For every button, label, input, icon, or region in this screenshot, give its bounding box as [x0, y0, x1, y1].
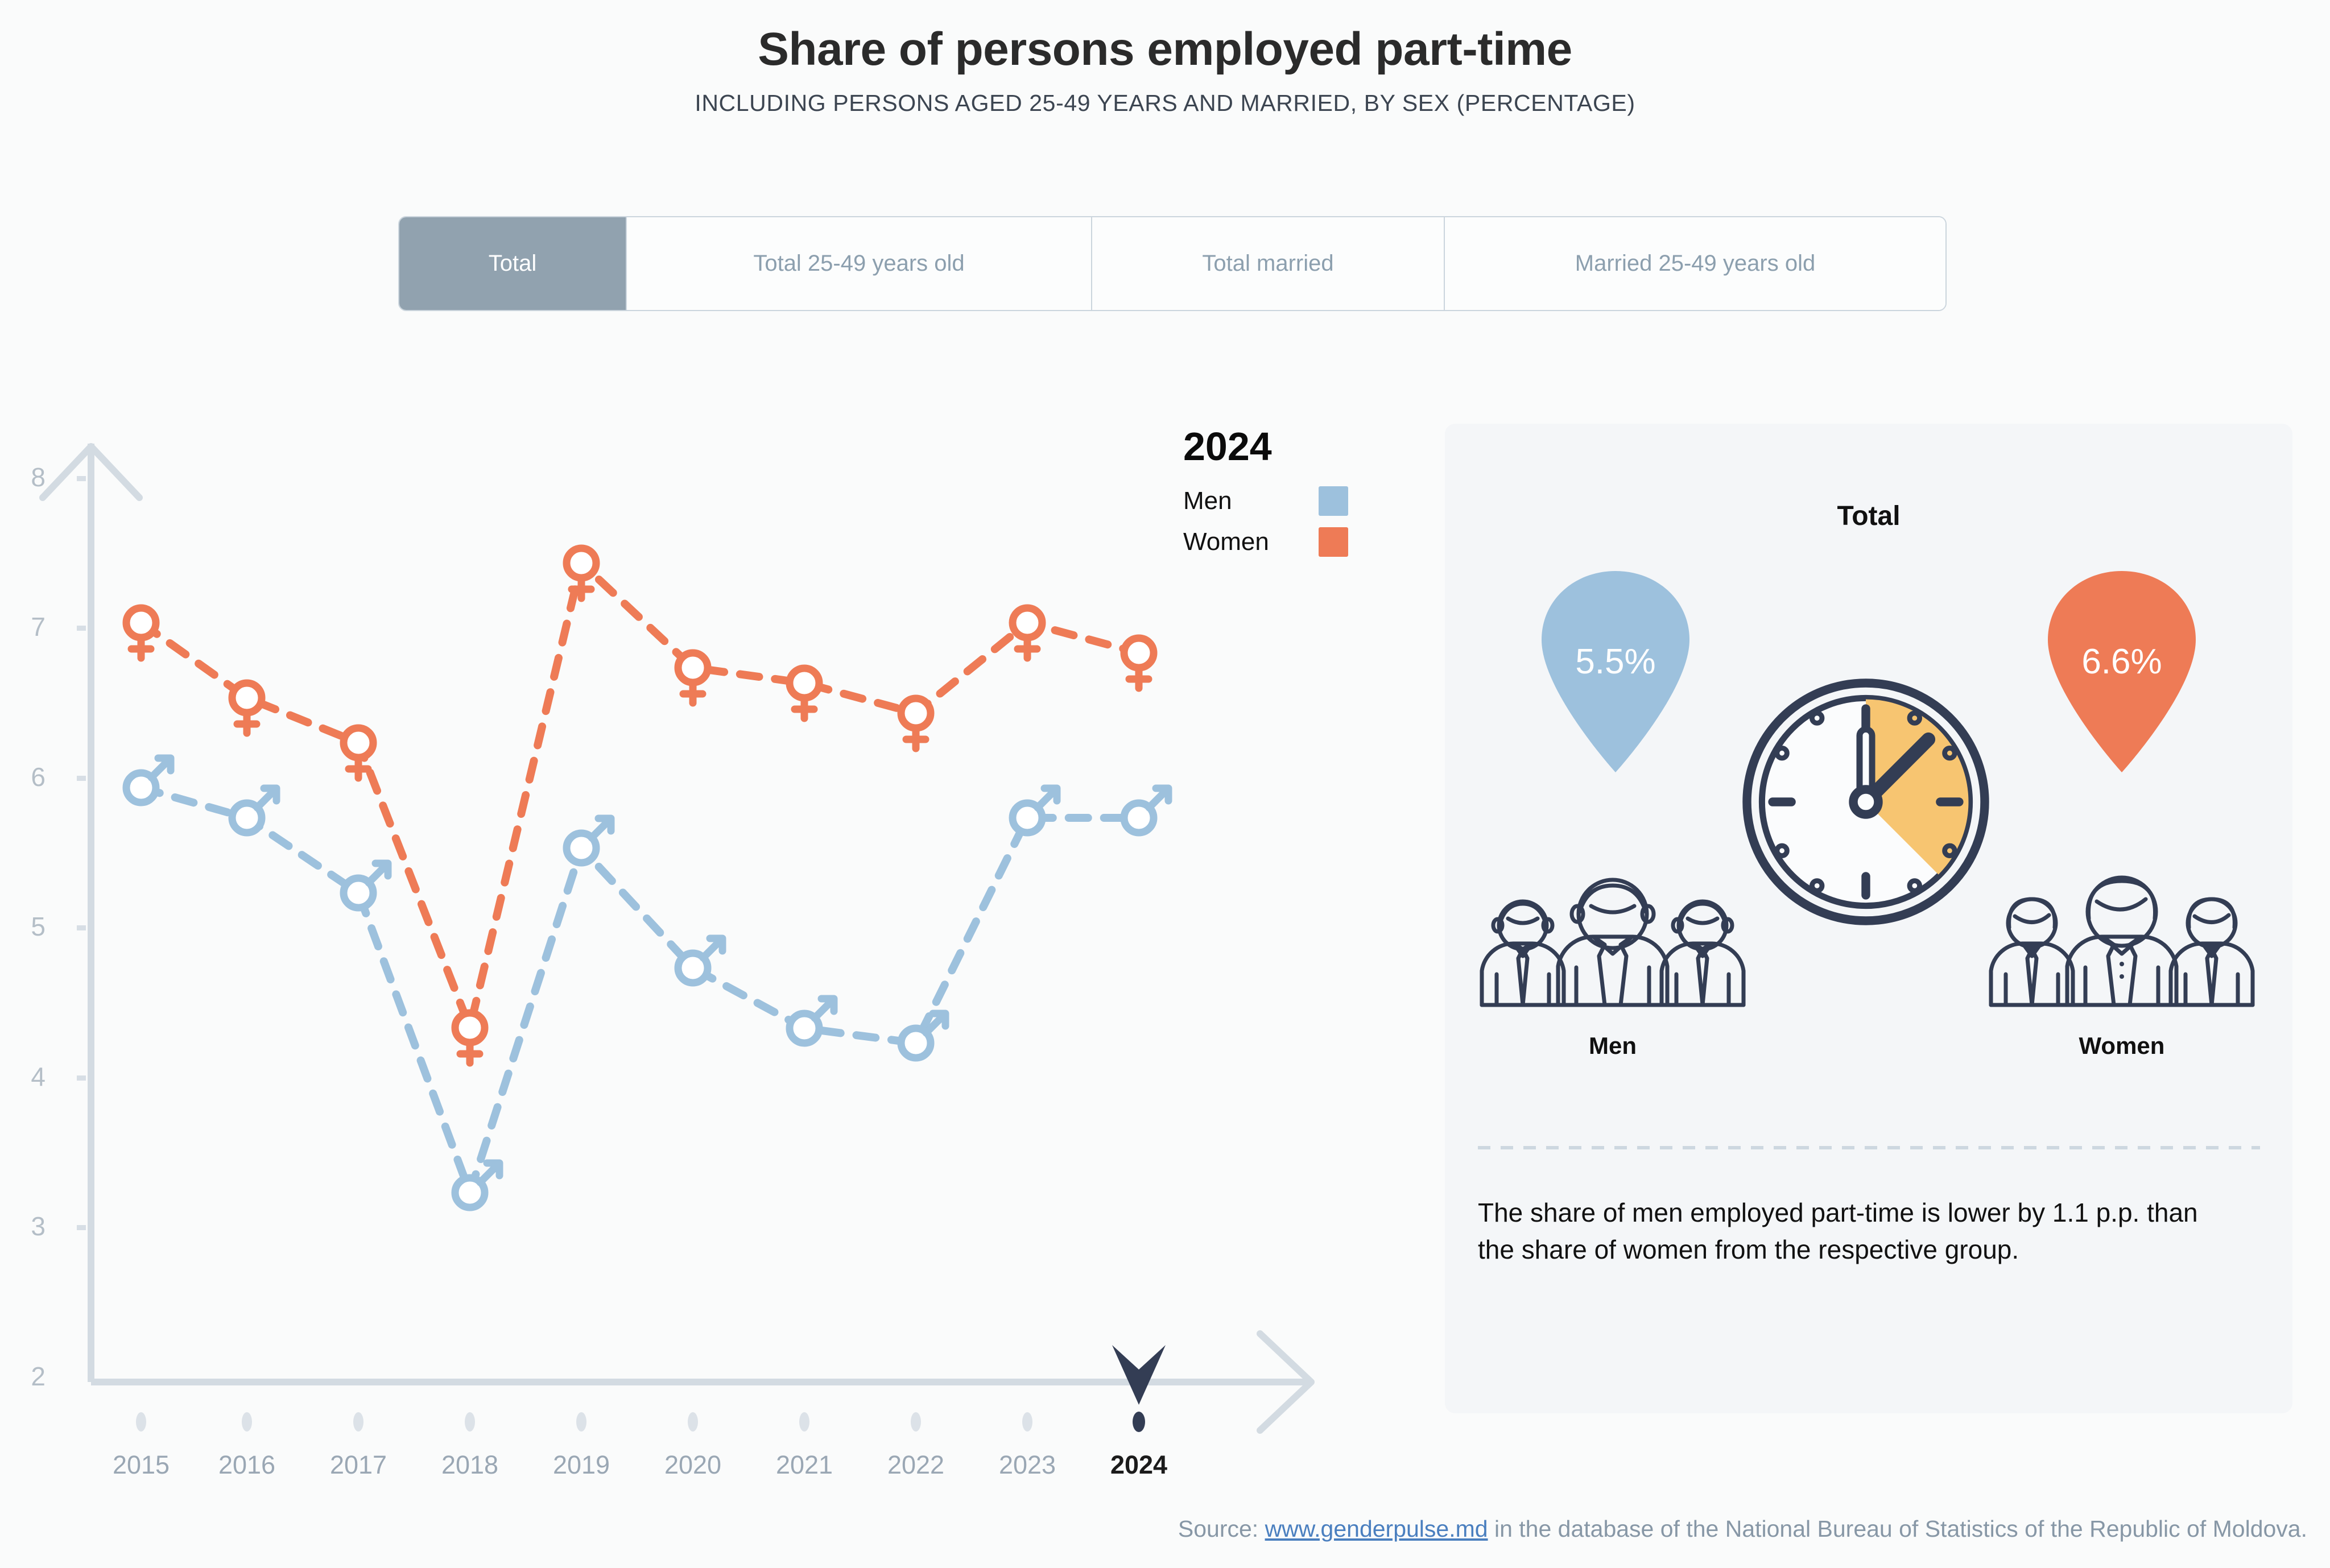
men-value-label: 5.5%: [1530, 642, 1701, 682]
series-line-women: [141, 563, 1139, 1028]
tab-total-25-49-years-old[interactable]: Total 25-49 years old: [627, 217, 1092, 310]
x-tick-label-2017: 2017: [301, 1450, 415, 1480]
y-tick-marks: [77, 476, 86, 1230]
x-axis-dots: [136, 1412, 1145, 1432]
current-year-pointer: [1112, 1345, 1166, 1405]
tab-bar: Total Total 25-49 years old Total marrie…: [398, 216, 1947, 311]
legend-swatch-men-icon: [1319, 486, 1348, 516]
women-group-icon: [1974, 862, 2270, 1015]
x-tick-label-2016: 2016: [190, 1450, 304, 1480]
page-subtitle: INCLUDING PERSONS AGED 25-49 YEARS AND M…: [0, 90, 2330, 117]
women-value-pin: 6.6%: [2036, 569, 2207, 773]
tab-total[interactable]: Total: [399, 217, 627, 310]
series-markers-women: [126, 548, 1154, 1063]
y-tick-label-8: 8: [6, 462, 46, 493]
x-tick-label-2022: 2022: [859, 1450, 973, 1480]
summary-panel-title: Total: [1445, 500, 2292, 532]
page-root: Share of persons employed part-time INCL…: [0, 0, 2330, 1568]
men-group-caption: Men: [1465, 1032, 1761, 1060]
page-title: Share of persons employed part-time: [0, 23, 2330, 76]
y-axis: [43, 444, 139, 1382]
legend-label-women: Women: [1183, 528, 1269, 556]
source-prefix: Source:: [1178, 1516, 1265, 1542]
y-tick-label-2: 2: [6, 1361, 46, 1392]
legend-item-women[interactable]: Women: [1183, 527, 1348, 557]
summary-panel: Total 5.5% 6.6%: [1445, 424, 2292, 1413]
x-tick-label-2020: 2020: [636, 1450, 750, 1480]
legend-item-men[interactable]: Men: [1183, 486, 1348, 516]
women-group-caption: Women: [1974, 1032, 2270, 1060]
x-tick-label-2024: 2024: [1082, 1450, 1196, 1480]
x-tick-label-2015: 2015: [84, 1450, 198, 1480]
line-chart: 8 7 6 5 4 3 2 2015 2016 2017 2018 2019 2…: [0, 398, 1365, 1479]
chart-legend: 2024 Men Women: [1183, 424, 1394, 568]
y-tick-label-4: 4: [6, 1061, 46, 1092]
x-tick-label-2018: 2018: [413, 1450, 527, 1480]
legend-swatch-women-icon: [1319, 527, 1348, 557]
x-tick-label-2023: 2023: [970, 1450, 1084, 1480]
x-tick-label-2019: 2019: [524, 1450, 638, 1480]
source-link[interactable]: www.genderpulse.md: [1265, 1516, 1488, 1542]
series-markers-men: [126, 758, 1168, 1207]
men-group-icon: [1465, 862, 1761, 1015]
y-tick-label-5: 5: [6, 911, 46, 942]
panel-note: The share of men employed part-time is l…: [1478, 1194, 2229, 1269]
men-value-pin: 5.5%: [1530, 569, 1701, 773]
legend-year: 2024: [1183, 424, 1394, 469]
y-tick-label-7: 7: [6, 611, 46, 642]
x-tick-label-2021: 2021: [747, 1450, 861, 1480]
panel-divider: [1478, 1146, 2260, 1149]
x-axis: [91, 1334, 1311, 1430]
women-value-label: 6.6%: [2036, 642, 2207, 682]
series-line-men: [141, 788, 1139, 1193]
legend-label-men: Men: [1183, 487, 1232, 515]
y-tick-label-3: 3: [6, 1211, 46, 1242]
tab-total-married[interactable]: Total married: [1092, 217, 1445, 310]
y-tick-label-6: 6: [6, 762, 46, 792]
chart-canvas: [0, 398, 1365, 1479]
source-suffix: in the database of the National Bureau o…: [1488, 1516, 2307, 1542]
clock-icon: [1741, 677, 1991, 927]
tab-married-25-49-years-old[interactable]: Married 25-49 years old: [1445, 217, 1945, 310]
source-footer: Source: www.genderpulse.md in the databa…: [0, 1516, 2330, 1542]
